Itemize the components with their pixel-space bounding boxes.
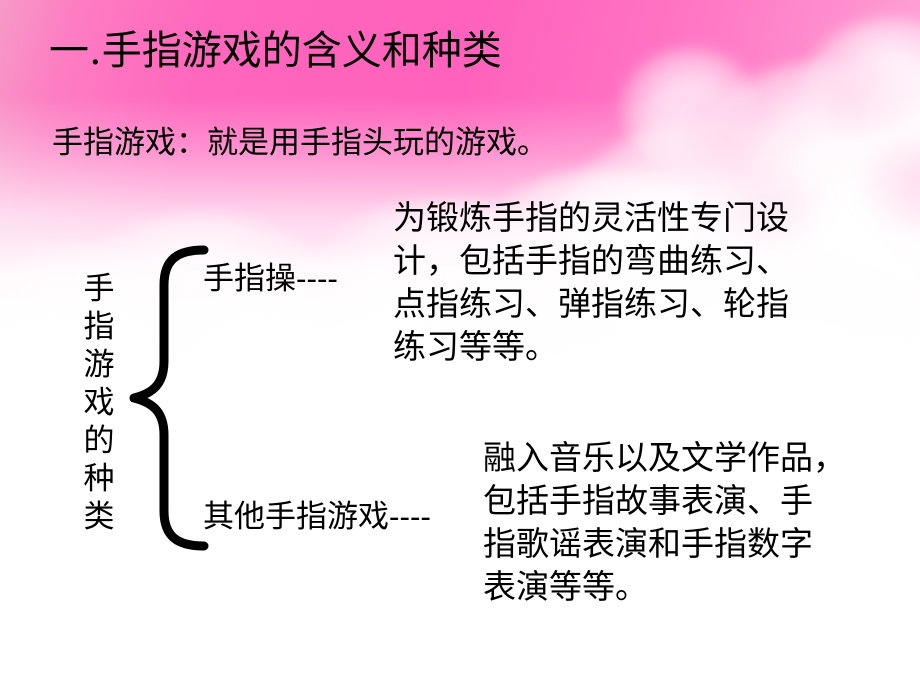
slide-content: 一.手指游戏的含义和种类 手指游戏：就是用手指头玩的游戏。 手 指 游 戏 的 … xyxy=(0,0,920,690)
description-line: 为锻炼手指的灵活性专门设 xyxy=(393,196,789,239)
description-line: 包括手指故事表演、手 xyxy=(483,479,846,522)
definition-line: 手指游戏：就是用手指头玩的游戏。 xyxy=(52,126,548,160)
description-line: 点指练习、弹指练习、轮指 xyxy=(393,282,789,325)
diagram-root-label: 手 指 游 戏 的 种 类 xyxy=(78,270,120,536)
description-line: 表演等等。 xyxy=(483,565,846,608)
root-label-char: 种 xyxy=(78,460,120,498)
presentation-slide: 一.手指游戏的含义和种类 手指游戏：就是用手指头玩的游戏。 手 指 游 戏 的 … xyxy=(0,0,920,690)
slide-title: 一.手指游戏的含义和种类 xyxy=(49,30,502,72)
description-line: 计，包括手指的弯曲练习、 xyxy=(393,239,789,282)
root-label-char: 手 xyxy=(78,270,120,308)
root-label-char: 的 xyxy=(78,422,120,460)
branch-label-finger-exercise: 手指操---- xyxy=(203,262,338,296)
root-label-char: 戏 xyxy=(78,384,120,422)
description-line: 融入音乐以及文学作品， xyxy=(483,436,846,479)
description-line: 指歌谣表演和手指数字 xyxy=(483,522,846,565)
root-label-char: 指 xyxy=(78,308,120,346)
branch-label-other-finger-games: 其他手指游戏---- xyxy=(203,500,431,534)
root-label-char: 类 xyxy=(78,498,120,536)
root-label-char: 游 xyxy=(78,346,120,384)
curly-brace-icon xyxy=(126,243,212,557)
description-line: 练习等等。 xyxy=(393,325,789,368)
branch-description-finger-exercise: 为锻炼手指的灵活性专门设 计，包括手指的弯曲练习、 点指练习、弹指练习、轮指 练… xyxy=(393,196,789,368)
branch-description-other-finger-games: 融入音乐以及文学作品， 包括手指故事表演、手 指歌谣表演和手指数字 表演等等。 xyxy=(483,436,846,608)
